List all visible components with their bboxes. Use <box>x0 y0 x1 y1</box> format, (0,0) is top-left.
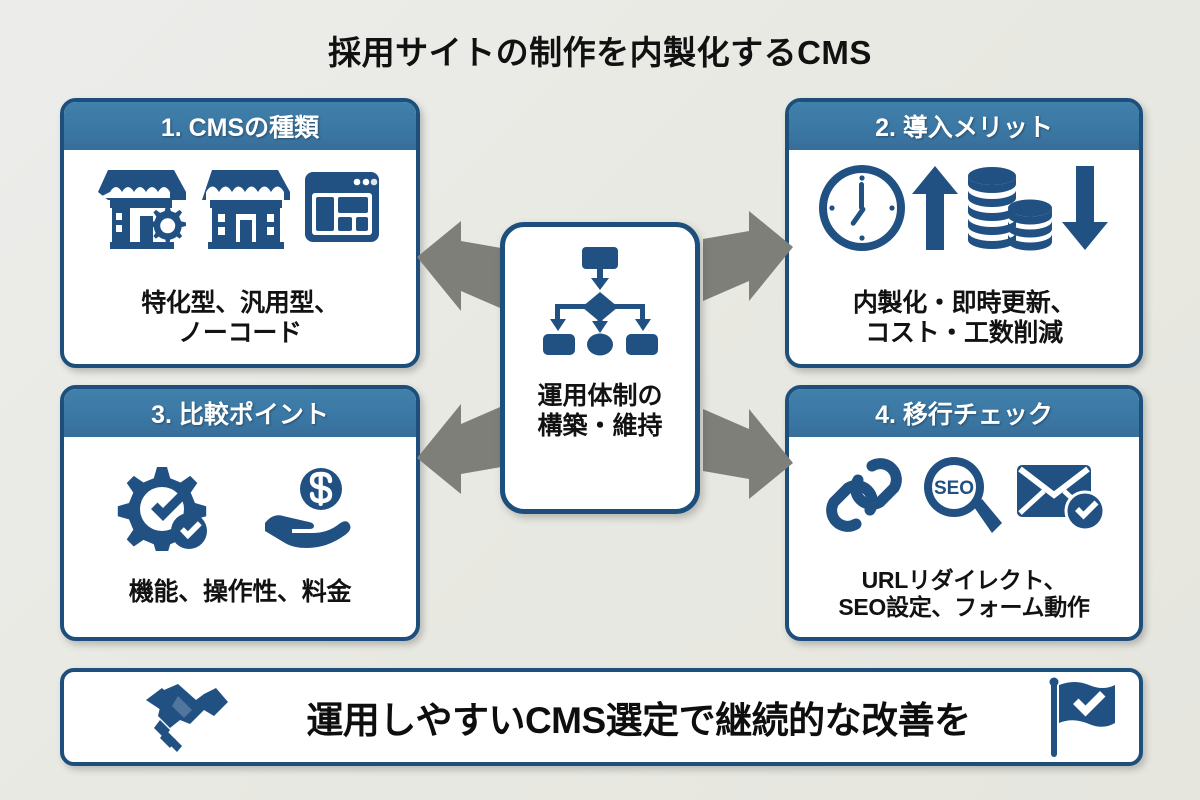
card-body: 特化型、汎用型、 ノーコード <box>64 150 416 364</box>
browser-window-icon <box>302 167 382 247</box>
card-body: 内製化・即時更新、 コスト・工数削減 <box>789 150 1139 364</box>
arrow-down-icon <box>1060 164 1110 252</box>
coin-stack-icon <box>964 164 1056 252</box>
card-benefits[interactable]: 2. 導入メリット <box>785 98 1143 368</box>
card-caption: 特化型、汎用型、 ノーコード <box>141 289 339 348</box>
flag-check-icon <box>1043 677 1117 757</box>
card-comparison-points[interactable]: 3. 比較ポイント <box>60 385 420 641</box>
gear-check-icon <box>117 465 213 551</box>
storefront-gear-icon <box>98 164 190 250</box>
icon-row: SEO <box>799 451 1129 539</box>
banner-text: 運用しやすいCMS選定で継続的な改善を <box>240 690 1037 744</box>
arrow-to-card4 <box>700 405 795 505</box>
center-hub-caption: 運用体制の 構築・維持 <box>537 381 662 441</box>
clock-icon <box>818 164 906 252</box>
card-header: 3. 比較ポイント <box>64 389 416 437</box>
icon-row <box>74 465 406 551</box>
infographic-page: { "title": "採用サイトの制作を内製化するCMS", "colors"… <box>0 0 1200 800</box>
arrow-to-card2 <box>700 205 795 310</box>
center-hub-operations[interactable]: 運用体制の 構築・維持 <box>500 222 700 514</box>
flowchart-icon <box>538 245 662 357</box>
arrow-to-card3 <box>415 400 510 500</box>
card-header: 1. CMSの種類 <box>64 102 416 150</box>
card-caption: 内製化・即時更新、 コスト・工数削減 <box>853 289 1075 348</box>
icon-row <box>799 164 1129 252</box>
seo-label: SEO <box>934 478 974 499</box>
card-caption: URLリダイレクト、 SEO設定、フォーム動作 <box>838 567 1089 621</box>
hand-coin-icon <box>263 465 363 551</box>
card-caption: 機能、操作性、料金 <box>129 578 351 608</box>
storefront-icon <box>202 164 290 250</box>
arrow-up-icon <box>910 164 960 252</box>
card-header: 4. 移行チェック <box>789 389 1139 437</box>
card-body: 機能、操作性、料金 <box>64 437 416 637</box>
seo-magnifier-icon: SEO <box>916 451 1004 539</box>
card-cms-types[interactable]: 1. CMSの種類 <box>60 98 420 368</box>
handshake-icon <box>144 682 230 752</box>
icon-row <box>74 164 406 250</box>
page-title: 採用サイトの制作を内製化するCMS <box>0 26 1200 74</box>
card-migration-check[interactable]: 4. 移行チェック SEO <box>785 385 1143 641</box>
card-header: 2. 導入メリット <box>789 102 1139 150</box>
envelope-check-icon <box>1014 455 1106 535</box>
chain-link-icon <box>822 452 906 538</box>
bottom-banner[interactable]: 運用しやすいCMS選定で継続的な改善を <box>60 668 1143 766</box>
arrow-to-card1 <box>415 215 510 315</box>
card-body: SEO URLリダイレクト、 SEO設定、フォーム動作 <box>789 437 1139 637</box>
